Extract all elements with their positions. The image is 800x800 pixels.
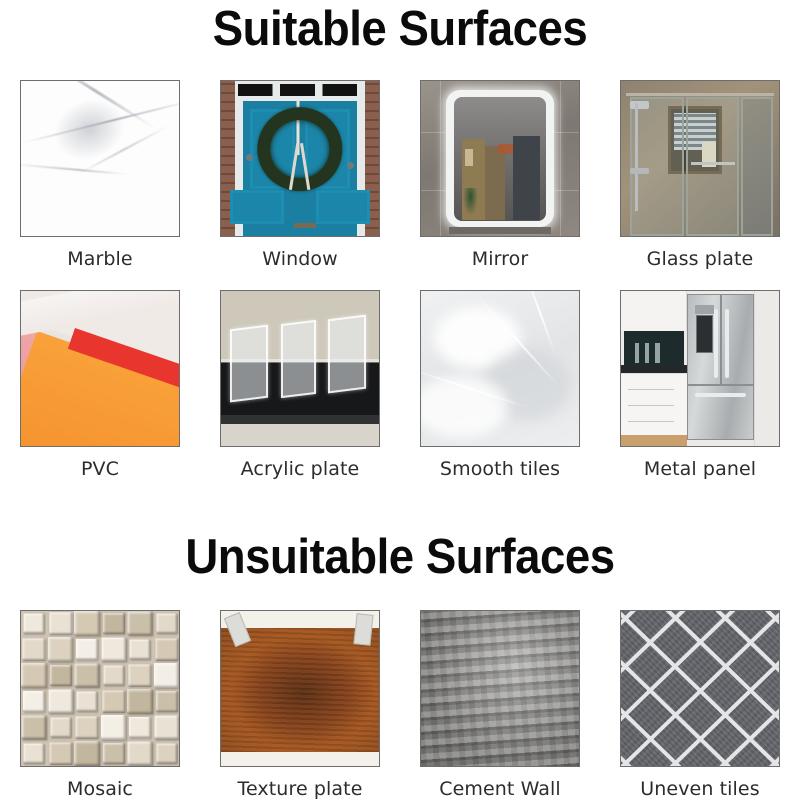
thumbnail-acrylic-plate	[220, 290, 380, 447]
mirror-image	[421, 81, 579, 236]
thumbnail-smooth-tiles	[420, 290, 580, 447]
pvc-sheets-image	[21, 291, 179, 446]
glass-shower-image	[621, 81, 779, 236]
thumbnail-pvc	[20, 290, 180, 447]
unsuitable-row-1: Mosaic Texture plate Cement Wall	[0, 610, 800, 800]
surface-card-marble[interactable]: Marble	[0, 80, 200, 270]
surface-label-marble: Marble	[67, 248, 132, 270]
thumbnail-window	[220, 80, 380, 237]
surface-label-acrylic-plate: Acrylic plate	[241, 458, 360, 480]
thumbnail-texture-plate	[220, 610, 380, 767]
suitable-row-2: PVC Acrylic plate Smooth	[0, 290, 800, 480]
rusty-texture-plate-image	[221, 611, 379, 766]
surface-label-cement-wall: Cement Wall	[439, 778, 561, 800]
surface-card-mirror[interactable]: Mirror	[400, 80, 600, 270]
page-title-unsuitable-surfaces: Unsuitable Surfaces	[28, 530, 772, 584]
surface-card-glass-plate[interactable]: Glass plate	[600, 80, 800, 270]
surface-card-smooth-tiles[interactable]: Smooth tiles	[400, 290, 600, 480]
window-door-image	[221, 81, 379, 236]
thumbnail-mirror	[420, 80, 580, 237]
surface-label-mirror: Mirror	[472, 248, 529, 270]
metal-fridge-image	[621, 291, 779, 446]
marble-texture-image	[21, 81, 179, 236]
thumbnail-mosaic	[20, 610, 180, 767]
surface-card-pvc[interactable]: PVC	[0, 290, 200, 480]
thumbnail-uneven-tiles	[620, 610, 780, 767]
surface-card-mosaic[interactable]: Mosaic	[0, 610, 200, 800]
surface-card-uneven-tiles[interactable]: Uneven tiles	[600, 610, 800, 800]
surface-card-window[interactable]: Window	[200, 80, 400, 270]
surface-compatibility-infographic: Suitable Surfaces Marble	[0, 0, 800, 800]
surface-card-acrylic-plate[interactable]: Acrylic plate	[200, 290, 400, 480]
surface-label-glass-plate: Glass plate	[647, 248, 754, 270]
surface-label-pvc: PVC	[81, 458, 119, 480]
surface-label-metal-panel: Metal panel	[644, 458, 756, 480]
surface-card-texture-plate[interactable]: Texture plate	[200, 610, 400, 800]
surface-card-metal-panel[interactable]: Metal panel	[600, 290, 800, 480]
surface-label-window: Window	[262, 248, 338, 270]
suitable-row-1: Marble Window	[0, 80, 800, 270]
surface-label-uneven-tiles: Uneven tiles	[640, 778, 759, 800]
cement-wall-image	[421, 611, 579, 766]
surface-label-smooth-tiles: Smooth tiles	[440, 458, 560, 480]
acrylic-slabs-image	[221, 291, 379, 446]
smooth-tile-texture-image	[421, 291, 579, 446]
thumbnail-glass-plate	[620, 80, 780, 237]
uneven-tiles-image	[621, 611, 779, 766]
surface-card-cement-wall[interactable]: Cement Wall	[400, 610, 600, 800]
thumbnail-marble	[20, 80, 180, 237]
surface-label-mosaic: Mosaic	[67, 778, 133, 800]
page-title-suitable-surfaces: Suitable Surfaces	[28, 2, 772, 56]
thumbnail-metal-panel	[620, 290, 780, 447]
mosaic-stone-image	[21, 611, 179, 766]
thumbnail-cement-wall	[420, 610, 580, 767]
surface-label-texture-plate: Texture plate	[237, 778, 362, 800]
